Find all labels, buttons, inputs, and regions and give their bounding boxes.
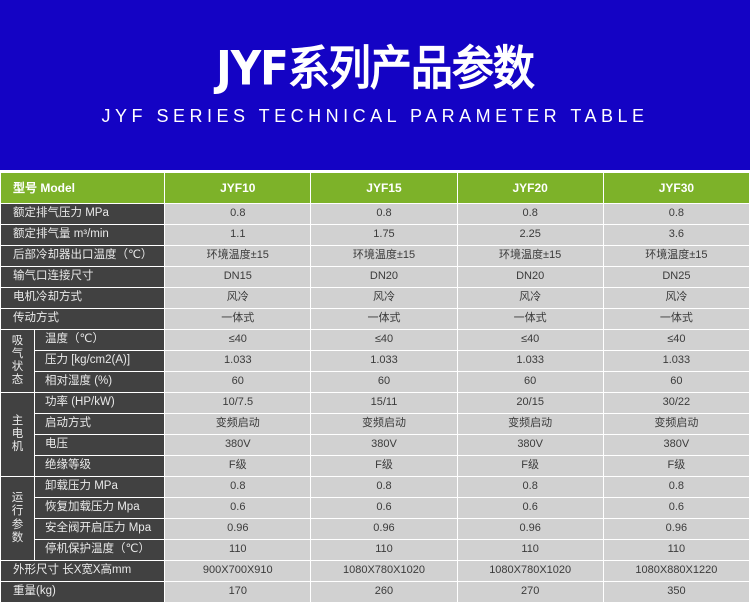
row-label: 绝缘等级: [35, 456, 164, 476]
group-label: 主电机: [1, 393, 34, 476]
row-value-1: 900X700X910: [165, 561, 310, 581]
row-value-4: 1080X880X1220: [604, 561, 749, 581]
row-label: 电机冷却方式: [1, 288, 164, 308]
header-model-1: JYF10: [165, 173, 310, 203]
row-value-2: 60: [311, 372, 456, 392]
page-root: JYF系列产品参数 JYF SERIES TECHNICAL PARAMETER…: [0, 0, 750, 609]
row-label: 卸载压力 MPa: [35, 477, 164, 497]
row-value-1: 风冷: [165, 288, 310, 308]
row-value-1: 110: [165, 540, 310, 560]
row-value-3: 380V: [458, 435, 603, 455]
table-row: 传动方式一体式一体式一体式一体式: [1, 309, 749, 329]
row-value-1: 一体式: [165, 309, 310, 329]
row-value-3: 110: [458, 540, 603, 560]
row-value-2: 1.033: [311, 351, 456, 371]
row-value-2: ≤40: [311, 330, 456, 350]
row-value-3: 0.8: [458, 204, 603, 224]
table-row: 启动方式变频启动变频启动变频启动变频启动: [1, 414, 749, 434]
row-value-2: 260: [311, 582, 456, 602]
row-value-4: F级: [604, 456, 749, 476]
row-value-4: 变频启动: [604, 414, 749, 434]
table-row: 相对湿度 (%)60606060: [1, 372, 749, 392]
row-value-3: 0.8: [458, 477, 603, 497]
row-value-4: 0.96: [604, 519, 749, 539]
row-value-4: 30/22: [604, 393, 749, 413]
row-value-1: 环境温度±15: [165, 246, 310, 266]
row-label: 温度（℃）: [35, 330, 164, 350]
row-label: 恢复加载压力 Mpa: [35, 498, 164, 518]
header-model-3: JYF20: [458, 173, 603, 203]
header-model-4: JYF30: [604, 173, 749, 203]
row-value-3: ≤40: [458, 330, 603, 350]
row-value-2: 0.96: [311, 519, 456, 539]
group-label-text: 运行参数: [11, 492, 24, 545]
row-label: 功率 (HP/kW): [35, 393, 164, 413]
row-value-2: 380V: [311, 435, 456, 455]
row-label: 输气口连接尺寸: [1, 267, 164, 287]
row-value-4: 110: [604, 540, 749, 560]
row-value-2: 0.6: [311, 498, 456, 518]
row-value-3: 0.6: [458, 498, 603, 518]
row-label: 相对湿度 (%): [35, 372, 164, 392]
table-row: 电压380V380V380V380V: [1, 435, 749, 455]
row-value-4: 60: [604, 372, 749, 392]
row-value-2: F级: [311, 456, 456, 476]
table-row: 运行参数卸载压力 MPa0.80.80.80.8: [1, 477, 749, 497]
group-label-text: 主电机: [11, 415, 24, 455]
row-value-3: 环境温度±15: [458, 246, 603, 266]
row-value-3: 0.96: [458, 519, 603, 539]
row-value-2: 变频启动: [311, 414, 456, 434]
row-value-3: 风冷: [458, 288, 603, 308]
row-value-2: 15/11: [311, 393, 456, 413]
row-value-1: 0.6: [165, 498, 310, 518]
row-value-1: 0.96: [165, 519, 310, 539]
table-row: 外形尺寸 长X宽X高mm900X700X9101080X780X10201080…: [1, 561, 749, 581]
group-label-text: 吸气状态: [11, 335, 24, 388]
header-model-2: JYF15: [311, 173, 456, 203]
row-value-2: 1.75: [311, 225, 456, 245]
row-value-1: 变频启动: [165, 414, 310, 434]
table-row: 主电机功率 (HP/kW)10/7.515/1120/1530/22: [1, 393, 749, 413]
row-value-1: ≤40: [165, 330, 310, 350]
table-header-row: 型号 ModelJYF10JYF15JYF20JYF30: [1, 173, 749, 203]
table-row: 吸气状态温度（℃）≤40≤40≤40≤40: [1, 330, 749, 350]
row-value-1: F级: [165, 456, 310, 476]
row-label: 传动方式: [1, 309, 164, 329]
row-label: 外形尺寸 长X宽X高mm: [1, 561, 164, 581]
row-label: 电压: [35, 435, 164, 455]
row-value-2: DN20: [311, 267, 456, 287]
row-value-1: DN15: [165, 267, 310, 287]
row-value-3: 1.033: [458, 351, 603, 371]
table-row: 后部冷却器出口温度（℃）环境温度±15环境温度±15环境温度±15环境温度±15: [1, 246, 749, 266]
row-value-3: 60: [458, 372, 603, 392]
row-value-3: 1080X780X1020: [458, 561, 603, 581]
row-value-4: ≤40: [604, 330, 749, 350]
row-label: 安全阀开启压力 Mpa: [35, 519, 164, 539]
table-row: 电机冷却方式风冷风冷风冷风冷: [1, 288, 749, 308]
row-value-4: 3.6: [604, 225, 749, 245]
row-value-3: F级: [458, 456, 603, 476]
row-value-1: 0.8: [165, 477, 310, 497]
spec-table-wrapper: 型号 ModelJYF10JYF15JYF20JYF30额定排气压力 MPa0.…: [0, 170, 750, 603]
row-value-4: DN25: [604, 267, 749, 287]
row-value-2: 0.8: [311, 477, 456, 497]
row-value-1: 1.1: [165, 225, 310, 245]
group-label: 运行参数: [1, 477, 34, 560]
table-row: 重量(kg)170260270350: [1, 582, 749, 602]
row-value-4: 环境温度±15: [604, 246, 749, 266]
table-row: 绝缘等级F级F级F级F级: [1, 456, 749, 476]
row-value-3: 270: [458, 582, 603, 602]
table-row: 额定排气量 m³/min1.11.752.253.6: [1, 225, 749, 245]
table-row: 额定排气压力 MPa0.80.80.80.8: [1, 204, 749, 224]
row-value-2: 0.8: [311, 204, 456, 224]
banner-subtitle: JYF SERIES TECHNICAL PARAMETER TABLE: [101, 106, 648, 127]
table-row: 停机保护温度（℃）110110110110: [1, 540, 749, 560]
banner-title: JYF系列产品参数: [216, 44, 534, 93]
table-row: 安全阀开启压力 Mpa0.960.960.960.96: [1, 519, 749, 539]
row-label: 额定排气压力 MPa: [1, 204, 164, 224]
table-row: 恢复加载压力 Mpa0.60.60.60.6: [1, 498, 749, 518]
row-value-2: 风冷: [311, 288, 456, 308]
row-value-4: 一体式: [604, 309, 749, 329]
row-value-3: 一体式: [458, 309, 603, 329]
row-label: 压力 [kg/cm2(A)]: [35, 351, 164, 371]
row-value-2: 110: [311, 540, 456, 560]
row-value-4: 风冷: [604, 288, 749, 308]
row-value-4: 0.6: [604, 498, 749, 518]
footer-disclaimer: 我司有不断改进产品之权利，参数变化恕不另行通知: [0, 603, 750, 609]
group-label: 吸气状态: [1, 330, 34, 392]
row-value-3: 20/15: [458, 393, 603, 413]
row-value-1: 1.033: [165, 351, 310, 371]
row-value-3: 变频启动: [458, 414, 603, 434]
row-value-4: 380V: [604, 435, 749, 455]
row-value-1: 60: [165, 372, 310, 392]
table-row: 输气口连接尺寸DN15DN20DN20DN25: [1, 267, 749, 287]
row-value-2: 一体式: [311, 309, 456, 329]
row-label: 启动方式: [35, 414, 164, 434]
table-row: 压力 [kg/cm2(A)]1.0331.0331.0331.033: [1, 351, 749, 371]
row-value-1: 170: [165, 582, 310, 602]
row-label: 停机保护温度（℃）: [35, 540, 164, 560]
row-value-4: 0.8: [604, 477, 749, 497]
row-value-2: 环境温度±15: [311, 246, 456, 266]
row-value-1: 0.8: [165, 204, 310, 224]
row-value-3: 2.25: [458, 225, 603, 245]
row-label: 额定排气量 m³/min: [1, 225, 164, 245]
row-value-3: DN20: [458, 267, 603, 287]
row-value-4: 350: [604, 582, 749, 602]
row-label: 重量(kg): [1, 582, 164, 602]
spec-table: 型号 ModelJYF10JYF15JYF20JYF30额定排气压力 MPa0.…: [0, 172, 750, 603]
row-value-4: 0.8: [604, 204, 749, 224]
row-label: 后部冷却器出口温度（℃）: [1, 246, 164, 266]
row-value-4: 1.033: [604, 351, 749, 371]
row-value-2: 1080X780X1020: [311, 561, 456, 581]
row-value-1: 380V: [165, 435, 310, 455]
header-model-label: 型号 Model: [1, 173, 164, 203]
page-banner: JYF系列产品参数 JYF SERIES TECHNICAL PARAMETER…: [0, 0, 750, 170]
row-value-1: 10/7.5: [165, 393, 310, 413]
